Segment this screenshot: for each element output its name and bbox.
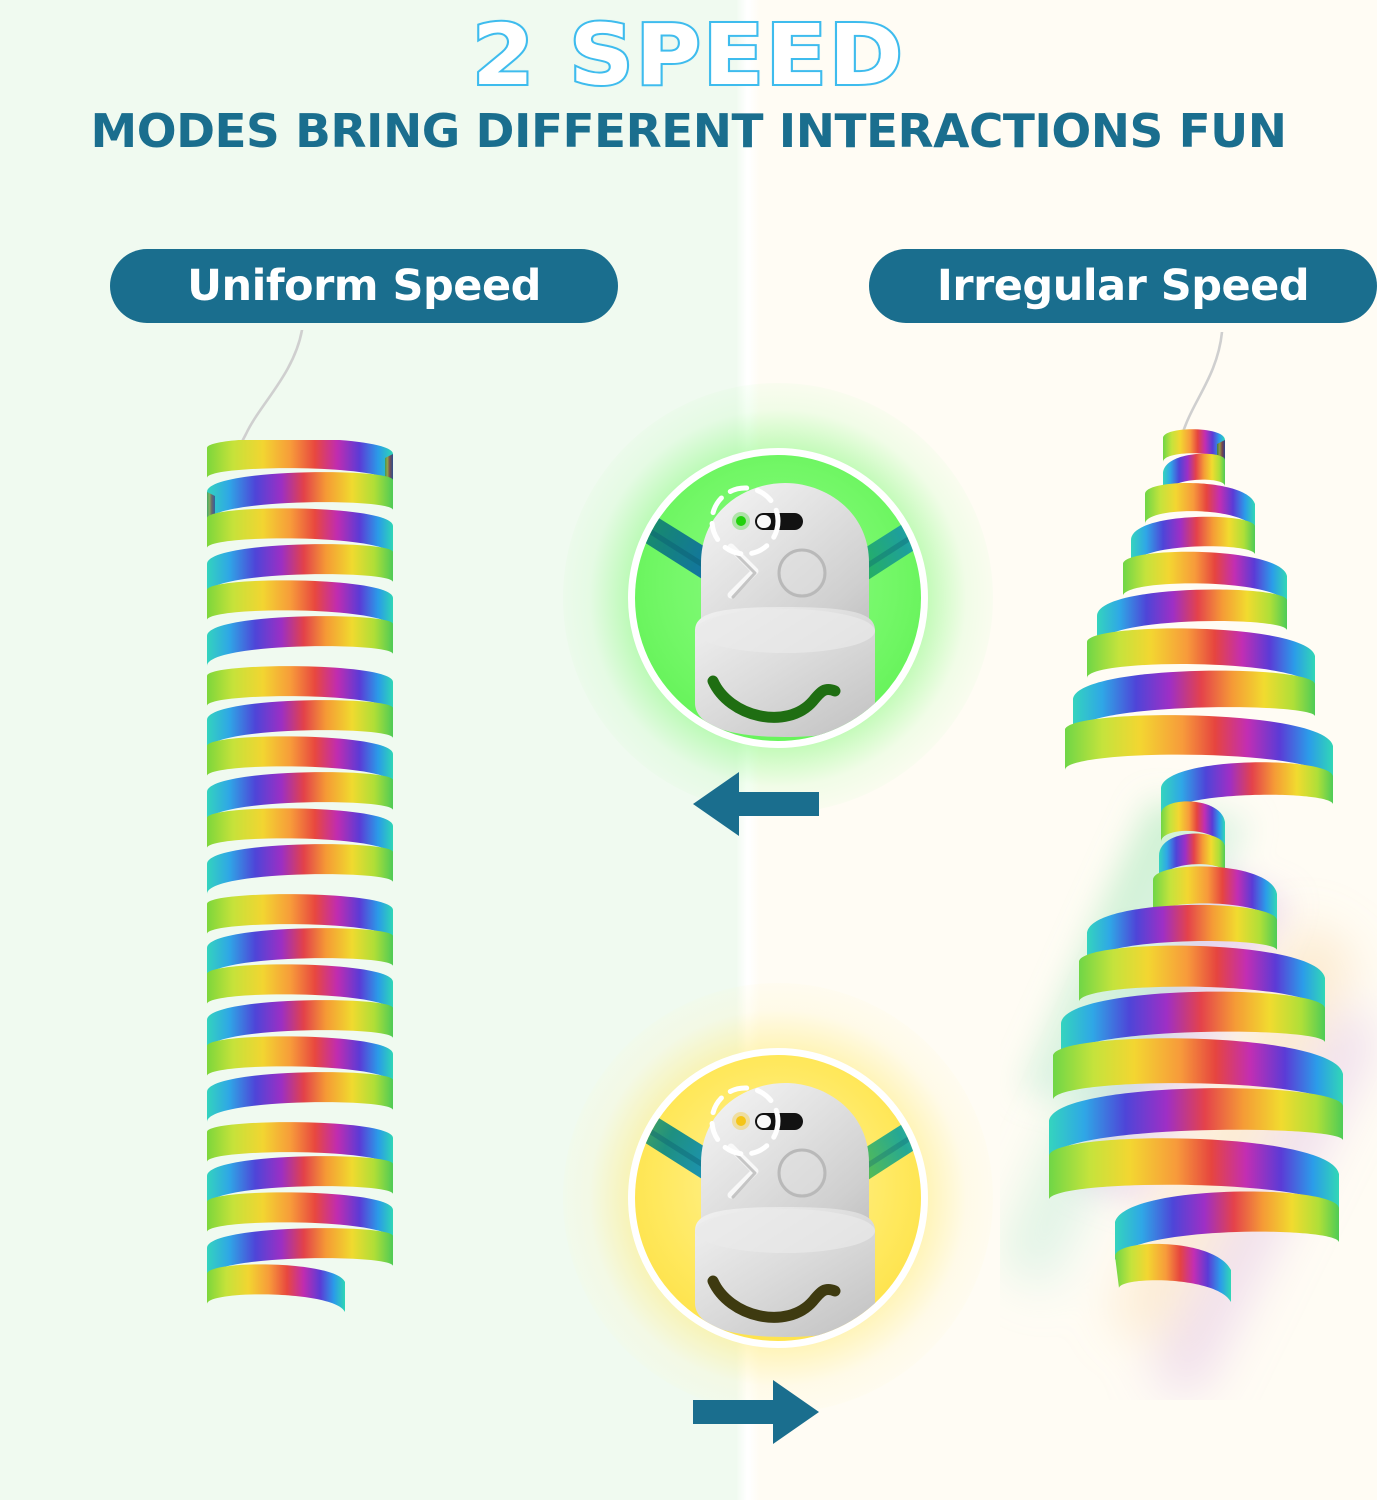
device-badge-green-mode[interactable] — [578, 438, 978, 758]
headline-block: 2 SPEED MODES BRING DIFFERENT INTERACTIO… — [0, 0, 1377, 158]
infographic-canvas: 2 SPEED MODES BRING DIFFERENT INTERACTIO… — [0, 0, 1377, 1500]
arrow-left-to-uniform — [693, 770, 819, 838]
yellow-mode-illustration — [635, 1055, 928, 1348]
pill-label-irregular: Irregular Speed — [937, 261, 1309, 311]
pill-label-uniform: Uniform Speed — [187, 261, 541, 311]
label-pill-irregular-speed: Irregular Speed — [869, 249, 1377, 323]
headline-secondary: MODES BRING DIFFERENT INTERACTIONS FUN — [0, 104, 1377, 158]
label-pill-uniform-speed: Uniform Speed — [110, 249, 618, 323]
device-badge-yellow-mode[interactable] — [578, 1038, 978, 1358]
green-mode-disc — [628, 448, 928, 748]
green-mode-illustration — [635, 455, 928, 748]
spiral-uniform — [185, 440, 415, 1380]
arrow-right-to-irregular — [693, 1378, 819, 1446]
spiral-irregular — [1035, 420, 1365, 1320]
headline-primary: 2 SPEED — [0, 16, 1377, 96]
yellow-mode-disc — [628, 1048, 928, 1348]
